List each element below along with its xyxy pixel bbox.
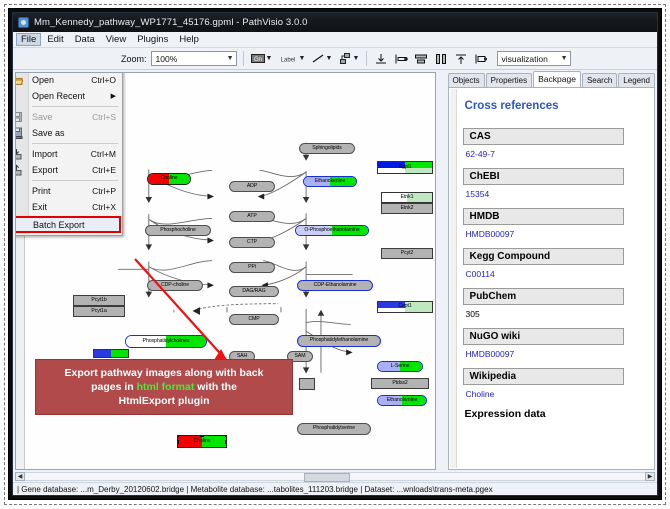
menu-separator [32,106,118,107]
tab-backpage[interactable]: Backpage [533,71,581,87]
window-title: Mm_Kennedy_pathway_WP1771_45176.gpml - P… [34,17,308,28]
chevron-down-icon[interactable]: ▼ [266,55,273,62]
file-menu-item-print[interactable]: Print Ctrl+P [15,183,122,199]
menu-separator [32,143,118,144]
scroll-left-icon[interactable]: ◀ [15,472,25,481]
svg-text:Label: Label [280,57,295,63]
xref-value-pubchem: 305 [466,309,646,319]
label-tool-icon[interactable]: Label [277,51,299,67]
zoom-label: Zoom: [121,54,147,64]
pathway-editor-pane[interactable]: ▸▸ [15,72,436,470]
xref-source-cas: CAS [463,128,624,145]
chevron-down-icon[interactable]: ▼ [299,55,306,62]
horizontal-scrollbar[interactable]: ◀ ▶ [15,471,655,482]
application-window: Mm_Kennedy_pathway_WP1771_45176.gpml - P… [12,12,658,496]
main-body: ▸▸ [13,70,657,470]
chevron-down-icon[interactable]: ▼ [353,55,360,62]
menu-separator [32,180,118,181]
xref-source-chebi: ChEBI [463,168,624,185]
expression-data-title: Expression data [465,408,646,420]
xref-source-nugo-wiki: NuGO wiki [463,328,624,345]
callout-annotation: Export pathway images along with back pa… [35,359,293,415]
xref-value-kegg-compound[interactable]: C00114 [466,269,646,279]
export-icon [15,164,23,176]
backpage-content: Cross references CAS 62-49-7 ChEBI 15354… [463,100,646,420]
side-panel-tabs[interactable]: Objects Properties Backpage Search Legen… [438,72,655,87]
tab-search[interactable]: Search [582,73,617,87]
xref-source-wikipedia: Wikipedia [463,368,624,385]
xref-source-hmdb: HMDB [463,208,624,225]
xref-source-kegg-compound: Kegg Compound [463,248,624,265]
chevron-down-icon: ▼ [227,55,234,62]
side-panel: Objects Properties Backpage Search Legen… [436,70,657,470]
file-menu-label-open: Open [32,75,91,85]
callout-line-1: Export pathway images along with back [65,366,264,380]
status-bar: | Gene database: ...m_Derby_20120602.bri… [13,482,657,495]
chevron-down-icon: ▼ [561,55,568,62]
xref-value-cas[interactable]: 62-49-7 [466,149,646,159]
menu-help[interactable]: Help [174,33,204,46]
callout-line-2: pages in html format with the [91,380,237,394]
align-left-tool-icon[interactable] [393,51,409,67]
svg-text:Gn: Gn [254,57,262,63]
backpage-panel[interactable]: Cross references CAS 62-49-7 ChEBI 15354… [448,87,655,470]
interaction-tool-icon[interactable] [337,51,353,67]
menu-view[interactable]: View [101,33,131,46]
align-bottom-tool-icon[interactable] [453,51,469,67]
tool-bar: Zoom: 100% ▼ Gn ▼ Label ▼ [13,48,657,70]
align-top-tool-icon[interactable] [373,51,389,67]
callout-line-2-suffix: with the [194,381,237,393]
tab-objects[interactable]: Objects [448,73,485,87]
gene-product-tool-icon[interactable]: Gn [250,51,266,67]
xref-value-hmdb[interactable]: HMDB00097 [466,229,646,239]
callout-line-3: HtmlExport plugin [119,394,210,408]
pathvisio-app-icon [18,17,29,28]
tab-properties[interactable]: Properties [486,73,532,87]
chevron-down-icon[interactable]: ▼ [326,55,333,62]
visualization-value: visualization [502,54,548,64]
file-menu-item-save-as[interactable]: Save as [15,125,122,141]
xref-group-kegg-compound: Kegg Compound C00114 [463,248,646,279]
cross-references-title: Cross references [465,100,646,112]
file-menu-label-exit: Exit [32,202,92,212]
file-menu-item-export[interactable]: Export Ctrl+E [15,162,122,178]
file-menu-label-save-as: Save as [32,128,122,138]
common-height-tool-icon[interactable] [473,51,489,67]
save-as-icon [15,127,23,139]
file-menu-popup[interactable]: New Ctrl+N Open Ctrl+O Open Recent [15,72,123,236]
file-menu-label-batch-export: Batch Export [33,220,119,230]
file-menu-item-save[interactable]: Save Ctrl+S [15,109,122,125]
zoom-value: 100% [156,54,178,64]
file-menu-accel-save: Ctrl+S [92,112,122,122]
scroll-track[interactable] [25,472,645,481]
line-tool-icon[interactable] [310,51,326,67]
file-menu-label-import: Import [32,149,91,159]
backpage-scrollbar[interactable] [450,89,457,468]
import-icon [15,148,23,160]
toolbar-separator [243,51,244,66]
status-bar-text: | Gene database: ...m_Derby_20120602.bri… [17,485,493,494]
file-menu-accel-export: Ctrl+E [92,165,122,175]
tab-legend[interactable]: Legend [618,73,655,87]
menu-data[interactable]: Data [70,33,100,46]
callout-highlight: html format [137,381,195,393]
file-menu-label-save: Save [32,112,92,122]
common-width-tool-icon[interactable] [433,51,449,67]
file-menu-accel-open: Ctrl+O [91,75,122,85]
file-menu-accel-exit: Ctrl+X [92,202,122,212]
xref-value-wikipedia[interactable]: Choline [466,389,646,399]
file-menu-accel-import: Ctrl+M [91,149,122,159]
callout-line-2-prefix: pages in [91,381,137,393]
zoom-combobox[interactable]: 100% ▼ [151,51,237,66]
file-menu-label-export: Export [32,165,92,175]
open-folder-icon [15,74,23,86]
menu-plugins[interactable]: Plugins [132,33,173,46]
xref-group-hmdb: HMDB HMDB00097 [463,208,646,239]
stack-center-tool-icon[interactable] [413,51,429,67]
file-menu-item-open-recent[interactable]: Open Recent ▶ [15,88,122,104]
label-tool-group[interactable]: Label ▼ [277,51,306,67]
save-disk-icon [15,111,23,123]
xref-group-nugo-wiki: NuGO wiki HMDB00097 [463,328,646,359]
xref-source-pubchem: PubChem [463,288,624,305]
toolbar-separator [366,51,367,66]
file-menu-label-open-recent: Open Recent [32,91,111,101]
file-menu-label-print: Print [32,186,92,196]
menu-edit[interactable]: Edit [42,33,68,46]
menu-bar[interactable]: File Edit Data View Plugins Help [13,32,657,48]
xref-group-chebi: ChEBI 15354 [463,168,646,199]
title-bar: Mm_Kennedy_pathway_WP1771_45176.gpml - P… [13,13,657,32]
line-tool-group[interactable]: ▼ [310,51,333,67]
file-menu-item-import[interactable]: Import Ctrl+M [15,146,122,162]
file-menu-item-batch-export[interactable]: Batch Export [15,216,121,233]
xref-group-pubchem: PubChem 305 [463,288,646,319]
file-menu-item-open[interactable]: Open Ctrl+O [15,72,122,88]
gene-product-tool-group[interactable]: Gn ▼ [250,51,273,67]
file-menu-accel-print: Ctrl+P [92,186,122,196]
xref-group-wikipedia: Wikipedia Choline [463,368,646,399]
visualization-combobox[interactable]: visualization ▼ [497,51,571,66]
xref-value-nugo-wiki[interactable]: HMDB00097 [466,349,646,359]
file-menu-item-exit[interactable]: Exit Ctrl+X [15,199,122,215]
menu-file[interactable]: File [16,33,41,46]
scroll-thumb[interactable] [304,473,350,482]
screenshot-root: Mm_Kennedy_pathway_WP1771_45176.gpml - P… [0,0,670,509]
scroll-right-icon[interactable]: ▶ [645,472,655,481]
xref-group-cas: CAS 62-49-7 [463,128,646,159]
chevron-right-icon: ▶ [111,92,122,100]
xref-value-chebi[interactable]: 15354 [466,189,646,199]
interaction-tool-group[interactable]: ▼ [337,51,360,67]
